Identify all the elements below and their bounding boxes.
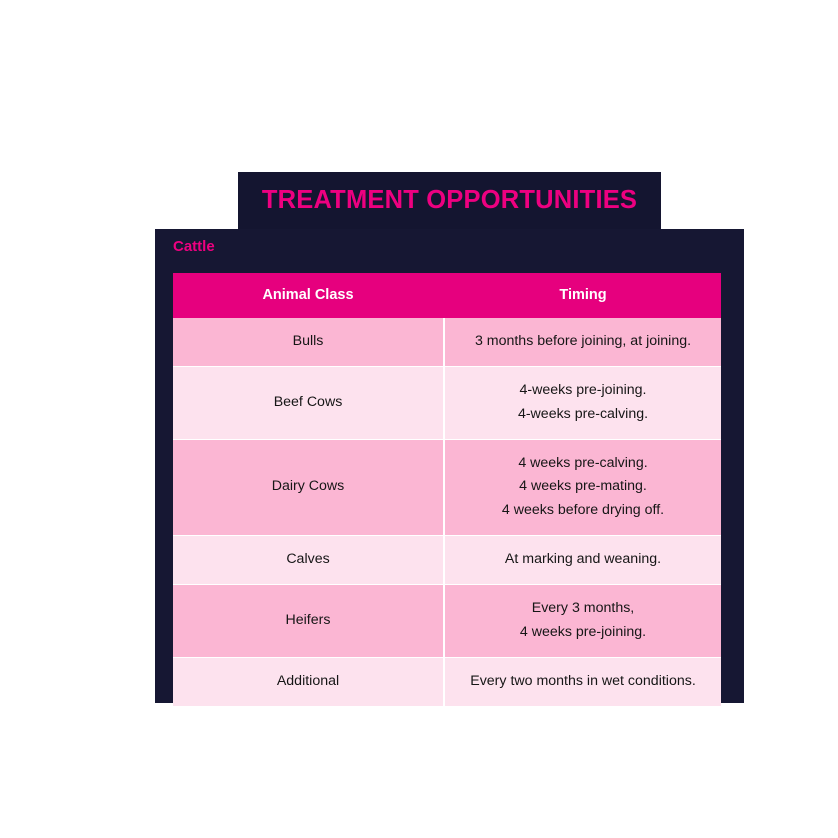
table-row: CalvesAt marking and weaning. [173, 536, 721, 585]
cell-animal-class: Heifers [173, 585, 444, 658]
cell-timing: Every 3 months,4 weeks pre-joining. [444, 585, 721, 658]
timing-line: 3 months before joining, at joining. [453, 330, 713, 354]
table-header-row: Animal Class Timing [173, 273, 721, 318]
cell-timing: 4 weeks pre-calving.4 weeks pre-mating.4… [444, 439, 721, 536]
timing-line: 4-weeks pre-calving. [453, 403, 713, 427]
timing-line: 4 weeks pre-calving. [453, 452, 713, 476]
timing-line: Every 3 months, [453, 597, 713, 621]
cell-animal-class: Calves [173, 536, 444, 585]
timing-line: Every two months in wet conditions. [453, 670, 713, 694]
column-header-timing: Timing [444, 273, 721, 318]
timing-line: 4-weeks pre-joining. [453, 379, 713, 403]
timing-line: 4 weeks pre-mating. [453, 475, 713, 499]
cell-animal-class: Additional [173, 657, 444, 705]
table-header: Animal Class Timing [173, 273, 721, 318]
treatment-schedule-table: Animal Class Timing Bulls3 months before… [173, 273, 721, 706]
table-row: HeifersEvery 3 months,4 weeks pre-joinin… [173, 585, 721, 658]
cell-animal-class: Dairy Cows [173, 439, 444, 536]
cell-animal-class: Bulls [173, 318, 444, 366]
timing-line: At marking and weaning. [453, 548, 713, 572]
table-body: Bulls3 months before joining, at joining… [173, 318, 721, 706]
content-card: Cattle Animal Class Timing Bulls3 months… [155, 229, 744, 703]
page-title: TREATMENT OPPORTUNITIES [262, 188, 637, 214]
column-header-animal-class: Animal Class [173, 273, 444, 318]
title-banner: TREATMENT OPPORTUNITIES [238, 172, 661, 229]
treatment-opportunities-infographic: TREATMENT OPPORTUNITIES Cattle Animal Cl… [0, 0, 838, 838]
cell-timing: 4-weeks pre-joining.4-weeks pre-calving. [444, 366, 721, 439]
table-row: Beef Cows4-weeks pre-joining.4-weeks pre… [173, 366, 721, 439]
table-row: Bulls3 months before joining, at joining… [173, 318, 721, 366]
timing-line: 4 weeks pre-joining. [453, 621, 713, 645]
table-row: AdditionalEvery two months in wet condit… [173, 657, 721, 705]
timing-line: 4 weeks before drying off. [453, 499, 713, 523]
cell-timing: Every two months in wet conditions. [444, 657, 721, 705]
cell-timing: At marking and weaning. [444, 536, 721, 585]
cell-animal-class: Beef Cows [173, 366, 444, 439]
table-row: Dairy Cows4 weeks pre-calving.4 weeks pr… [173, 439, 721, 536]
cell-timing: 3 months before joining, at joining. [444, 318, 721, 366]
card-subtitle: Cattle [173, 239, 215, 254]
